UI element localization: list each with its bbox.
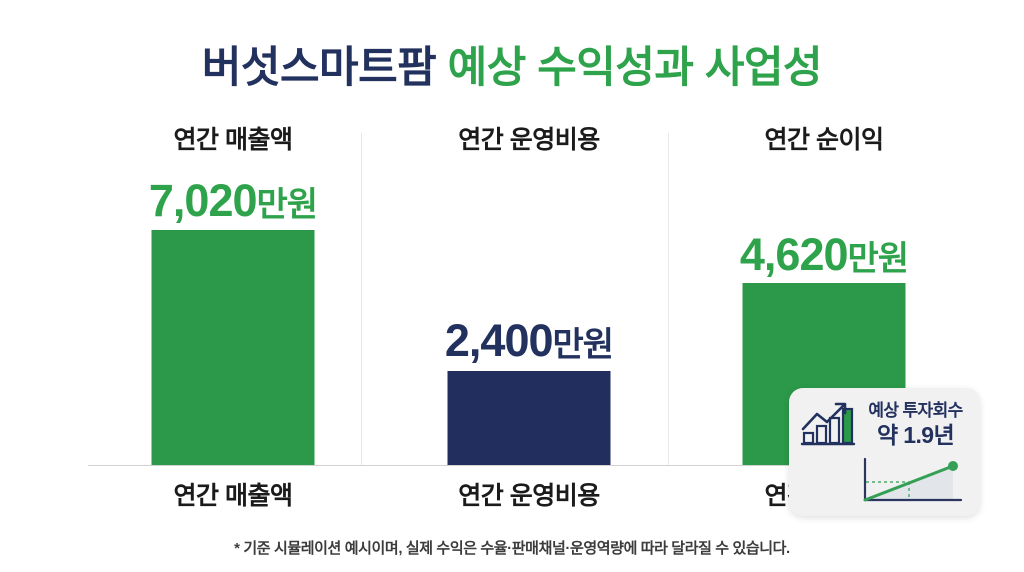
bar-chart-growth-icon — [797, 399, 859, 451]
column-header-profit: 연간 순이익 — [690, 120, 958, 156]
payback-badge-text: 예상 투자회수 약 1.9년 — [859, 402, 980, 448]
value-number-revenue: 7,020 — [149, 175, 257, 226]
payback-badge-top: 예상 투자회수 약 1.9년 — [789, 396, 980, 454]
payback-value: 약 1.9년 — [859, 422, 972, 448]
chart-column-revenue: 연간 매출액 7,020만원 연간 매출액 — [99, 120, 367, 466]
chart-column-opex: 연간 운영비용 2,400만원 연간 운영비용 — [395, 120, 663, 466]
column-value-opex: 2,400만원 — [395, 318, 663, 363]
payback-line-icon — [857, 456, 967, 506]
footnote: * 기준 시뮬레이션 예시이며, 실제 수익은 수율·판매채널·운영역량에 따라… — [0, 537, 1024, 558]
payback-badge: 예상 투자회수 약 1.9년 — [789, 388, 980, 516]
column-value-revenue: 7,020만원 — [99, 178, 367, 223]
value-number-profit: 4,620 — [740, 229, 848, 280]
value-unit-revenue: 만원 — [257, 186, 318, 224]
column-value-profit: 4,620만원 — [690, 232, 958, 277]
axis-label-opex: 연간 운영비용 — [395, 476, 663, 512]
column-divider-2 — [668, 133, 669, 465]
slide-canvas: 버섯스마트팜 예상 수익성과 사업성 연간 매출액 7,020만원 연간 매출액… — [0, 0, 1024, 572]
title-brand: 버섯스마트팜 — [202, 44, 436, 92]
value-unit-profit: 만원 — [848, 240, 909, 278]
value-unit-opex: 만원 — [553, 326, 614, 364]
page-title: 버섯스마트팜 예상 수익성과 사업성 — [0, 33, 1024, 95]
bar-opex — [448, 371, 611, 465]
axis-label-revenue: 연간 매출액 — [99, 476, 367, 512]
title-subject: 예상 수익성과 사업성 — [436, 44, 822, 92]
value-number-opex: 2,400 — [445, 315, 553, 366]
column-header-revenue: 연간 매출액 — [99, 120, 367, 156]
column-header-opex: 연간 운영비용 — [395, 120, 663, 156]
payback-label: 예상 투자회수 — [859, 402, 972, 421]
bar-revenue — [152, 230, 315, 465]
